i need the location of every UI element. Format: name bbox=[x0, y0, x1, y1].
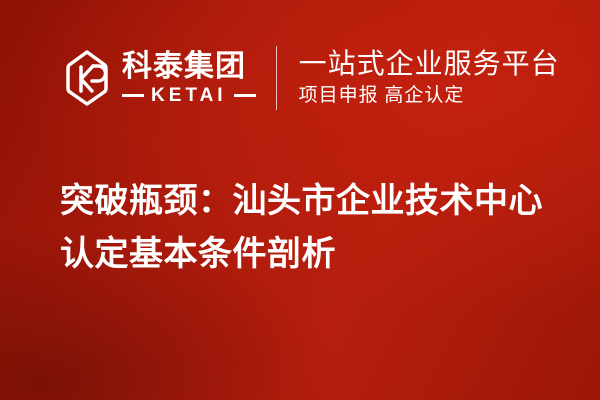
wordmark-dash-right bbox=[234, 94, 256, 97]
page-title: 突破瓶颈：汕头市企业技术中心认定基本条件剖析 bbox=[60, 175, 552, 281]
slogan-block: 一站式企业服务平台 项目申报 高企认定 bbox=[299, 43, 560, 113]
ketai-diamond-kp-monogram-icon bbox=[62, 47, 112, 109]
company-name-en-row: KETAI bbox=[122, 86, 256, 105]
company-name-cn: 科泰集团 bbox=[122, 51, 256, 83]
header-divider bbox=[276, 46, 277, 110]
wordmark: 科泰集团 KETAI bbox=[122, 45, 256, 111]
wordmark-dash-left bbox=[122, 94, 144, 97]
brand-header: 科泰集团 KETAI 一站式企业服务平台 项目申报 高企认定 bbox=[62, 42, 560, 114]
promo-banner: 科泰集团 KETAI 一站式企业服务平台 项目申报 高企认定 突破瓶颈：汕头市企… bbox=[0, 0, 600, 400]
company-name-en: KETAI bbox=[144, 86, 234, 105]
slogan-main: 一站式企业服务平台 bbox=[299, 48, 560, 79]
slogan-sub: 项目申报 高企认定 bbox=[299, 85, 560, 108]
